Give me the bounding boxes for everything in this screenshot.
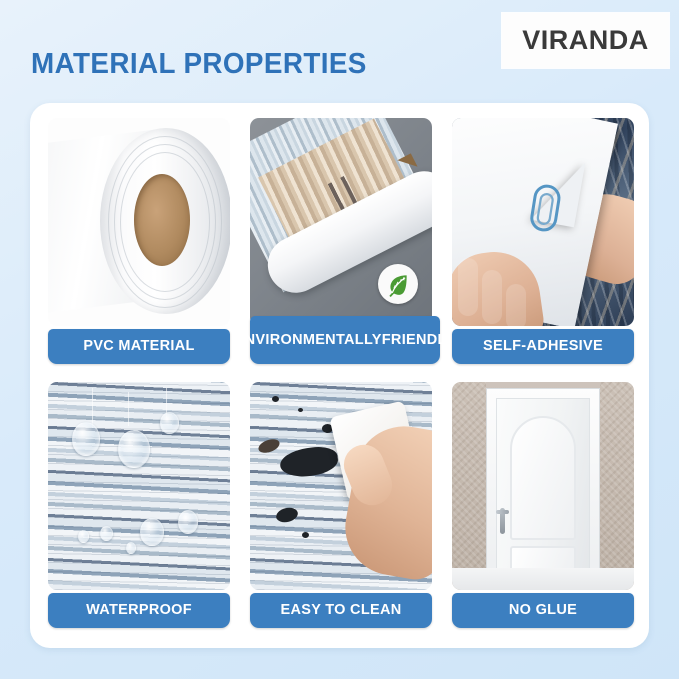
brand-logo-box: VIRANDA: [502, 13, 669, 68]
feature-card-no-glue[interactable]: NO GLUE: [452, 382, 634, 628]
feature-label-waterproof-bar: WATERPROOF: [48, 593, 230, 628]
feature-label-line-2: FRIENDLY: [382, 332, 456, 348]
feature-card-waterproof[interactable]: WATERPROOF: [48, 382, 230, 628]
features-grid: PVC MATERIAL ENVIRONMENTALLY FRIENDLY: [48, 118, 634, 628]
feature-label-easy-to-clean: EASY TO CLEAN: [250, 593, 432, 628]
brand-name: VIRANDA: [522, 25, 649, 56]
feature-card-environmentally-friendly[interactable]: ENVIRONMENTALLY FRIENDLY: [250, 118, 432, 364]
feature-label-environmentally-friendly: ENVIRONMENTALLY FRIENDLY: [250, 316, 440, 364]
self-adhesive-image: [452, 118, 634, 326]
feature-card-easy-to-clean[interactable]: EASY TO CLEAN: [250, 382, 432, 628]
feature-card-pvc-material[interactable]: PVC MATERIAL: [48, 118, 230, 364]
page-title: MATERIAL PROPERTIES: [31, 48, 367, 81]
pvc-roll-image: [48, 118, 230, 326]
feature-card-self-adhesive[interactable]: SELF-ADHESIVE: [452, 118, 634, 364]
feature-label-line-1: ENVIRONMENTALLY: [235, 332, 382, 348]
leaf-icon: [378, 264, 418, 304]
waterproof-image: [48, 382, 230, 590]
feature-label-no-glue: NO GLUE: [452, 593, 634, 628]
no-glue-image: [452, 382, 634, 590]
feature-label-self-adhesive: SELF-ADHESIVE: [452, 329, 634, 364]
eco-roll-image: [250, 118, 432, 326]
door-handle-icon: [500, 508, 505, 534]
feature-label-pvc-material: PVC MATERIAL: [48, 329, 230, 364]
easy-to-clean-image: [250, 382, 432, 590]
